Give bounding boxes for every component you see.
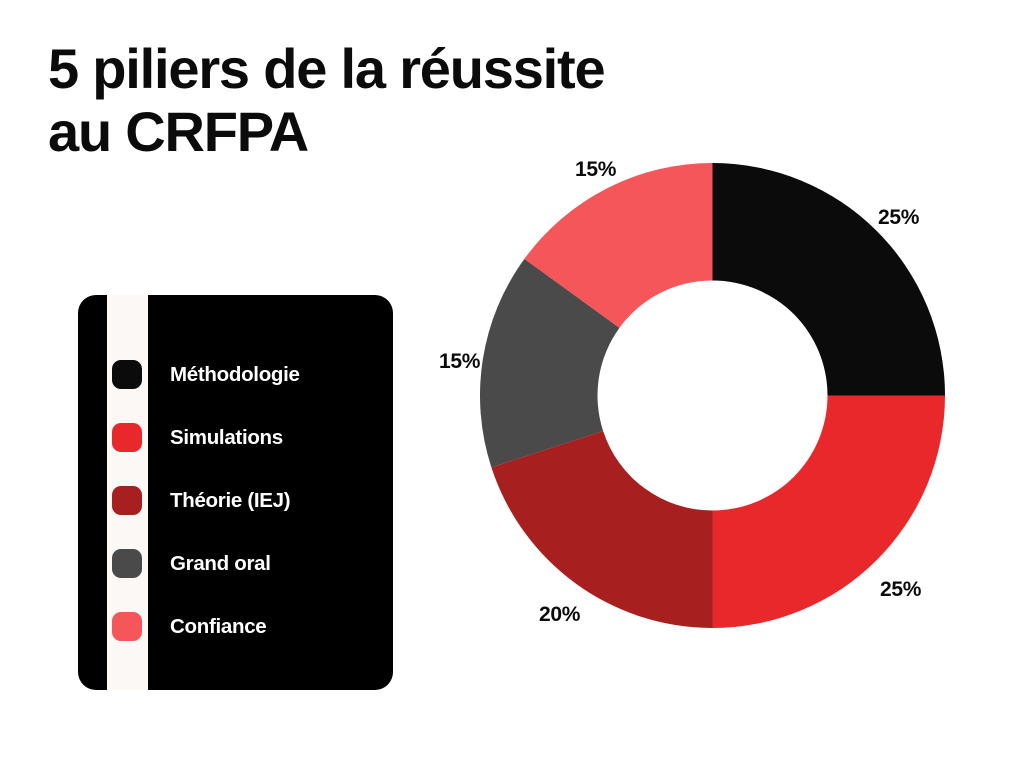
donut-chart <box>480 163 945 628</box>
donut-slice-th-orie-iej[interactable] <box>491 431 712 628</box>
slice-value-simulations: 25% <box>880 578 921 602</box>
legend-swatch-theorie-iej <box>112 486 142 515</box>
legend-swatch-methodologie <box>112 360 142 389</box>
legend-label-grand-oral: Grand oral <box>170 552 271 576</box>
slice-value-theorie-iej: 20% <box>539 603 580 627</box>
legend-item-methodologie[interactable]: Méthodologie <box>78 343 393 406</box>
donut-chart-svg <box>480 163 945 628</box>
slice-value-methodologie: 25% <box>878 206 919 230</box>
legend-label-methodologie: Méthodologie <box>170 363 300 387</box>
legend-item-theorie-iej[interactable]: Théorie (IEJ) <box>78 469 393 532</box>
legend-label-simulations: Simulations <box>170 426 283 450</box>
slice-value-confiance: 15% <box>575 158 616 182</box>
legend-item-confiance[interactable]: Confiance <box>78 595 393 658</box>
legend-swatch-simulations <box>112 423 142 452</box>
slice-value-grand-oral: 15% <box>439 350 480 374</box>
legend-list: Méthodologie Simulations Théorie (IEJ) G… <box>78 343 393 658</box>
legend-swatch-grand-oral <box>112 549 142 578</box>
legend-label-theorie-iej: Théorie (IEJ) <box>170 489 290 513</box>
page-title: 5 piliers de la réussite au CRFPA <box>48 38 668 163</box>
legend-label-confiance: Confiance <box>170 615 266 639</box>
legend-card: Méthodologie Simulations Théorie (IEJ) G… <box>78 295 393 690</box>
legend-item-grand-oral[interactable]: Grand oral <box>78 532 393 595</box>
donut-slice-m-thodologie[interactable] <box>713 163 946 396</box>
legend-item-simulations[interactable]: Simulations <box>78 406 393 469</box>
legend-swatch-confiance <box>112 612 142 641</box>
